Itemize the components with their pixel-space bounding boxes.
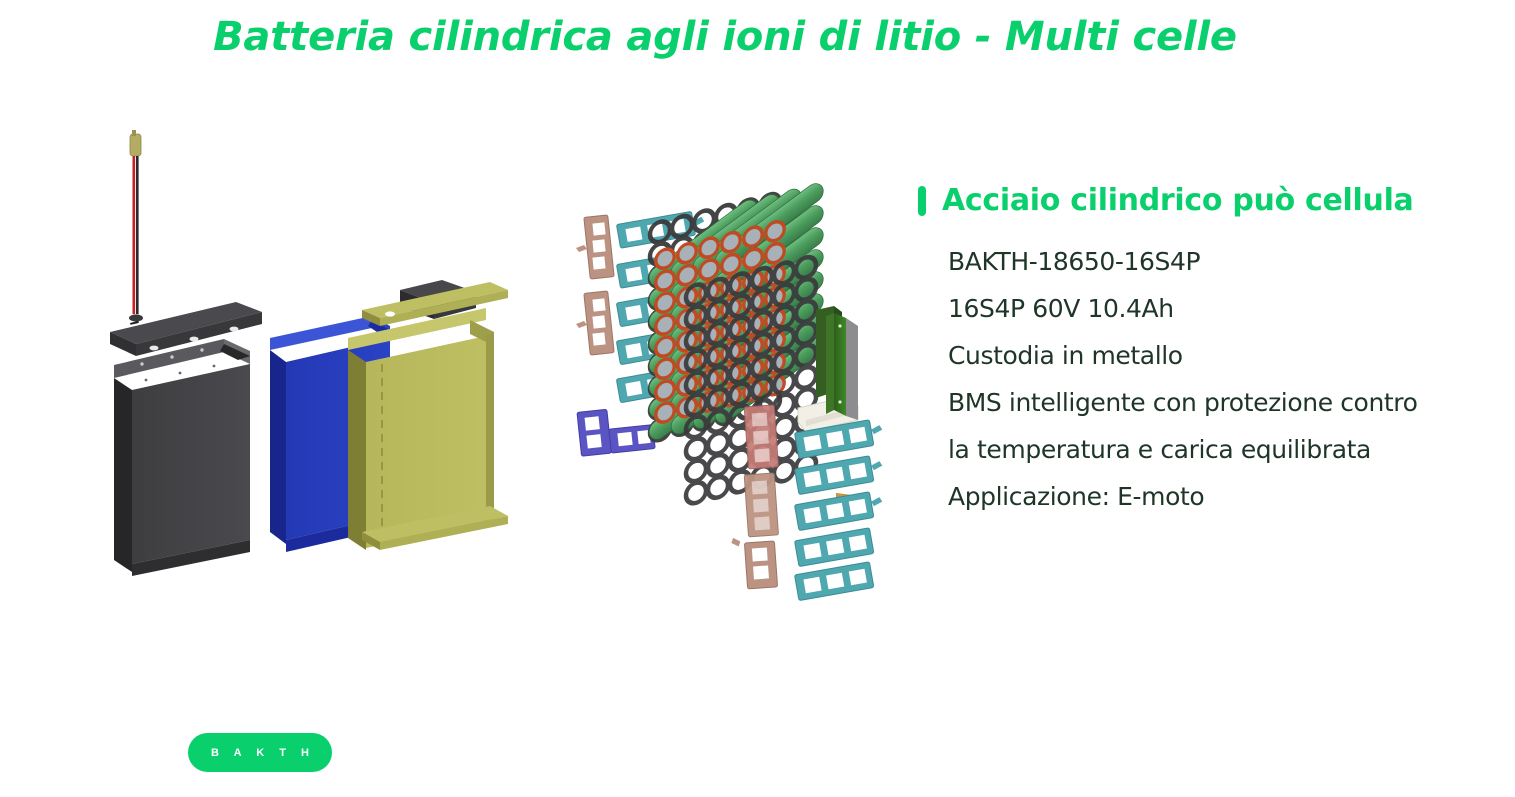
spec-line: BMS intelligente con protezione contro <box>948 379 1488 426</box>
brand-pill-label: B A K T H <box>205 747 315 759</box>
vertical-bar-bullet-icon <box>918 186 926 216</box>
spec-line: la temperatura e carica equilibrata <box>948 426 1488 473</box>
part-purple-nickel-strip <box>577 405 655 456</box>
spec-panel: Acciaio cilindrico può cellula BAKTH-186… <box>918 183 1488 520</box>
part-copper-nickel-strip <box>731 535 778 590</box>
spec-line: 16S4P 60V 10.4Ah <box>948 285 1488 332</box>
spec-heading: Acciaio cilindrico può cellula <box>942 183 1414 218</box>
part-nickel-strip-group-centre <box>731 405 778 590</box>
part-red-nickel-strip <box>744 405 778 469</box>
part-olive-insulation-wrap <box>348 280 508 550</box>
brand-pill-button[interactable]: B A K T H <box>188 733 332 772</box>
part-output-cable-with-connector <box>129 130 143 322</box>
spec-line: BAKTH-18650-16S4P <box>948 238 1488 285</box>
product-exploded-view-figure <box>90 120 900 620</box>
page-title: Batteria cilindrica agli ioni di litio -… <box>0 14 1450 60</box>
spec-line: Custodia in metallo <box>948 332 1488 379</box>
part-nickel-strip-group-right <box>795 418 885 601</box>
part-metal-outer-case <box>114 339 250 576</box>
part-teal-nickel-strip <box>795 418 885 601</box>
spec-line: Applicazione: E-moto <box>948 473 1488 520</box>
spec-heading-row: Acciaio cilindrico può cellula <box>918 183 1488 218</box>
part-copper-nickel-strip <box>744 473 778 537</box>
part-copper-nickel-strip <box>576 215 614 355</box>
